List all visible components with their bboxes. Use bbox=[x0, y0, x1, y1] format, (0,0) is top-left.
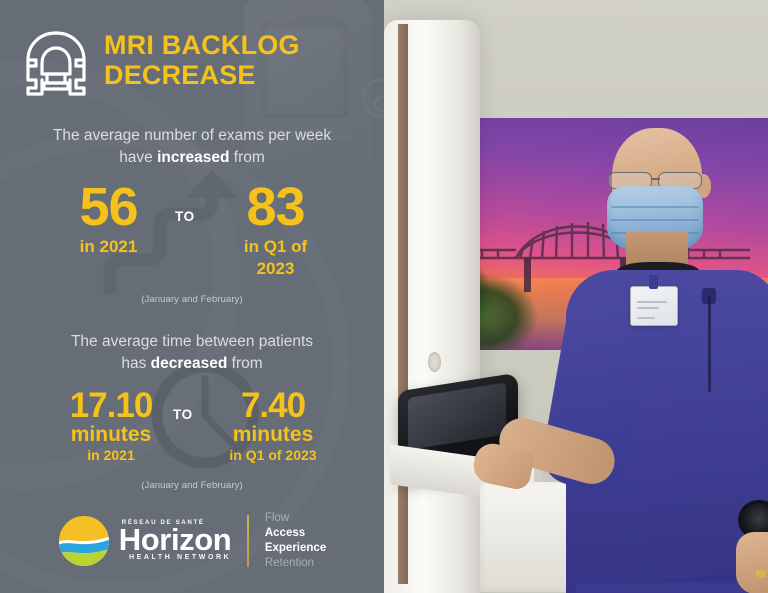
stat2-statement-line2: has decreased from bbox=[32, 353, 352, 375]
stat1-to-label-line1: in Q1 of bbox=[209, 238, 342, 256]
logo-name: Horizon bbox=[119, 527, 232, 554]
blue-scrubs-pants bbox=[576, 583, 766, 593]
stat2-prefix: has bbox=[121, 355, 150, 372]
mri-machine-indicator bbox=[428, 352, 441, 372]
stat1-prefix: have bbox=[119, 149, 157, 166]
horizon-logo: RÉSEAU DE SANTÉ Horizon HEALTH NETWORK bbox=[58, 515, 232, 567]
stat1-from-value: 56 bbox=[42, 182, 175, 234]
stat1-row: 56 in 2021 TO 83 in Q1 of 2023 bbox=[0, 182, 384, 278]
stat2-to-value: 7.40 bbox=[211, 389, 335, 423]
horizon-logo-wordmark: RÉSEAU DE SANTÉ Horizon HEALTH NETWORK bbox=[119, 519, 232, 564]
stat2-connector: TO bbox=[173, 407, 211, 422]
stat2-to: 7.40 minutes in Q1 of 2023 bbox=[211, 389, 335, 463]
stat1-to-label-line2: 2023 bbox=[209, 260, 342, 278]
logo-tagline-bottom: HEALTH NETWORK bbox=[119, 554, 232, 561]
stat2-statement-line1: The average time between patients bbox=[32, 331, 352, 353]
stat1-statement: The average number of exams per week hav… bbox=[0, 125, 384, 169]
infographic-poster: MRI BACKLOG DECREASE The average number … bbox=[0, 0, 768, 593]
stat2-to-units: minutes bbox=[211, 423, 335, 446]
mri-scanner-icon bbox=[22, 28, 90, 98]
mri-machine-edge bbox=[398, 24, 408, 584]
poster-header: MRI BACKLOG DECREASE bbox=[0, 0, 384, 98]
id-badge bbox=[630, 286, 678, 326]
finger-ring bbox=[756, 570, 766, 577]
page-title: MRI BACKLOG DECREASE bbox=[104, 24, 300, 90]
stat1-to-value: 83 bbox=[209, 182, 342, 234]
values-list: Flow Access Experience Retention bbox=[265, 511, 326, 571]
technologist-right-hand bbox=[736, 532, 768, 593]
stat2-statement: The average time between patients has de… bbox=[0, 331, 384, 375]
stats-panel: MRI BACKLOG DECREASE The average number … bbox=[0, 0, 384, 593]
stat1-statement-line1: The average number of exams per week bbox=[28, 125, 356, 147]
stat1-from: 56 in 2021 bbox=[42, 182, 175, 256]
stat1-connector: TO bbox=[175, 209, 209, 224]
mri-technologist-photo bbox=[384, 0, 768, 593]
technologist-figure bbox=[560, 128, 768, 593]
title-line-1: MRI BACKLOG bbox=[104, 30, 300, 60]
stat1-from-label: in 2021 bbox=[42, 238, 175, 256]
stat2-caption: (January and February) bbox=[0, 480, 384, 491]
stat2-from: 17.10 minutes in 2021 bbox=[49, 389, 173, 463]
stat1-statement-line2: have increased from bbox=[28, 147, 356, 169]
value-item-access: Access bbox=[265, 526, 326, 541]
stat1-caption: (January and February) bbox=[0, 294, 384, 305]
footer-logo-bar: RÉSEAU DE SANTÉ Horizon HEALTH NETWORK F… bbox=[0, 511, 384, 571]
stat2-emphasis: decreased bbox=[151, 355, 228, 372]
stat2-suffix: from bbox=[227, 355, 262, 372]
footer-divider bbox=[247, 515, 249, 567]
stat1-to: 83 in Q1 of 2023 bbox=[209, 182, 342, 278]
stat2-row: 17.10 minutes in 2021 TO 7.40 minutes in… bbox=[0, 389, 384, 463]
stat1-suffix: from bbox=[230, 149, 265, 166]
stat2-to-label: in Q1 of 2023 bbox=[211, 448, 335, 463]
console-screen bbox=[408, 382, 506, 450]
value-item-experience: Experience bbox=[265, 541, 326, 556]
stat2-from-units: minutes bbox=[49, 423, 173, 446]
horizon-logo-mark-icon bbox=[58, 515, 110, 567]
title-line-2: DECREASE bbox=[104, 60, 300, 90]
value-item-flow: Flow bbox=[265, 511, 326, 526]
scrubs-pocket-seam bbox=[708, 296, 711, 392]
stat2-from-value: 17.10 bbox=[49, 389, 173, 423]
value-item-retention: Retention bbox=[265, 556, 326, 571]
stat1-emphasis: increased bbox=[157, 149, 229, 166]
stat2-from-label: in 2021 bbox=[49, 448, 173, 463]
